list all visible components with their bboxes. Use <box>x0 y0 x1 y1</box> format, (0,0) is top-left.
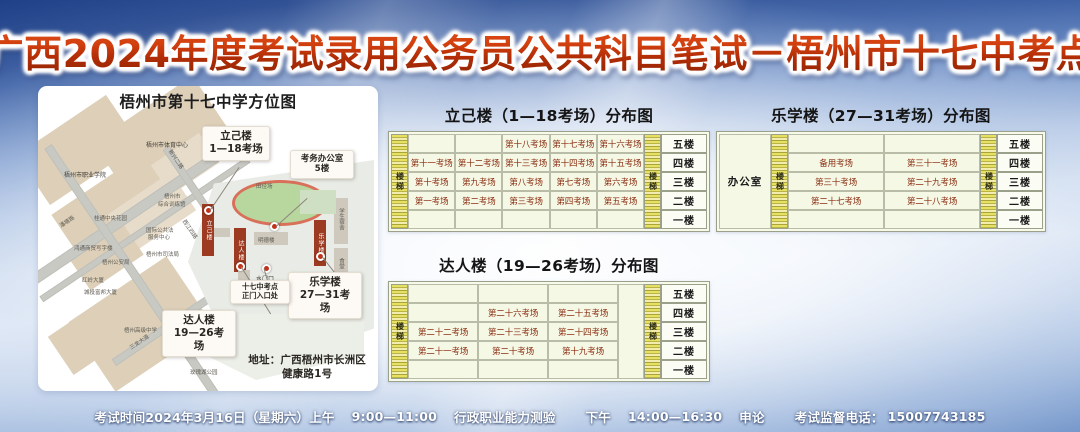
stairwell-right: 楼梯 <box>644 134 661 229</box>
map-label: 服务中心 <box>148 233 170 241</box>
exam-room-cell: 第二十九考场 <box>884 172 980 191</box>
footer-bar: 考试时间2024年3月16日（星期六）上午 9:00—11:00 行政职业能力测… <box>0 407 1080 426</box>
exam-room-cell: 第七考场 <box>550 172 597 191</box>
office-cell: 办公室 <box>719 134 771 229</box>
empty-cell <box>788 210 884 229</box>
floor-label-cell: 二楼 <box>661 341 707 360</box>
callout-gate-line2: 正门入口处 <box>235 292 285 301</box>
exam-room-cell: 第九考场 <box>455 172 502 191</box>
diagram-lexue: 乐学楼（27—31考场）分布图 办公室楼梯备用考场第三十一考场第三十考场第二十九… <box>716 104 1046 232</box>
floor-plan-grid: 楼梯第十八考场第十七考场第十六考场第十一考场第十二考场第十三考场第十四考场第十五… <box>391 134 707 229</box>
map-canvas: 立己楼 达人楼 乐学楼 梧州市职业学院 梧州市体育中心 梧州市 综合训练馆 桂通… <box>38 86 378 391</box>
map-address-line1: 地址：广西梧州市长洲区 <box>248 353 366 367</box>
empty-cell <box>455 210 502 229</box>
map-label: 明德楼 <box>258 236 275 244</box>
exam-room-cell: 第二十一考场 <box>408 341 478 360</box>
floor-label-cell: 四楼 <box>661 153 707 172</box>
building-daren-label: 达人楼 <box>237 240 243 261</box>
empty-cell <box>884 210 980 229</box>
stairwell-right-label: 楼梯 <box>985 172 993 192</box>
floor-label-cell: 二楼 <box>997 191 1043 210</box>
stairwell-right-label: 楼梯 <box>649 172 657 192</box>
floor-label-cell: 五楼 <box>661 134 707 153</box>
map-label: 桂通中央花园 <box>94 214 127 222</box>
exam-room-cell: 备用考场 <box>788 153 884 172</box>
floor-label-cell: 五楼 <box>661 284 707 303</box>
map-label: 西江四路 <box>181 218 200 241</box>
diagram-liji-grid: 楼梯第十八考场第十七考场第十六考场第十一考场第十二考场第十三考场第十四考场第十五… <box>388 131 710 232</box>
diagram-lexue-grid: 办公室楼梯备用考场第三十一考场第三十考场第二十九考场第二十七考场第二十八考场楼梯… <box>716 131 1046 232</box>
exam-room-cell: 第四考场 <box>550 191 597 210</box>
map-label: 田径场 <box>256 182 273 190</box>
exam-room-cell: 第二十五考场 <box>548 303 618 322</box>
exam-room-cell: 第十六考场 <box>597 134 644 153</box>
exam-room-cell: 第十四考场 <box>550 153 597 172</box>
diagram-lexue-title: 乐学楼（27—31考场）分布图 <box>716 104 1046 126</box>
map-label: 城投富邦大厦 <box>84 288 117 296</box>
map-label: 梧州市职业学院 <box>64 170 106 179</box>
exam-room-cell: 第十八考场 <box>502 134 549 153</box>
empty-cell <box>455 134 502 153</box>
empty-cell <box>478 360 548 379</box>
title-band: 广西2024年度考试录用公务员公共科目笔试－梧州市十七中考点 <box>0 21 1080 79</box>
floor-plan-grid: 办公室楼梯备用考场第三十一考场第三十考场第二十九考场第二十七考场第二十八考场楼梯… <box>719 134 1043 229</box>
map-address-line2: 健康路1号 <box>248 367 366 381</box>
floor-label-cell: 四楼 <box>997 153 1043 172</box>
stairwell-right: 楼梯 <box>644 284 661 379</box>
callout-kaowu[interactable]: 考务办公室 5楼 <box>290 150 354 179</box>
exam-room-cell: 第三十一考场 <box>884 153 980 172</box>
empty-cell <box>548 360 618 379</box>
diagram-daren: 达人楼（19—26考场）分布图 楼梯第二十六考场第二十五考场第二十二考场第二十三… <box>388 254 710 382</box>
callout-gate[interactable]: 十七中考点 正门入口处 <box>230 280 290 304</box>
map-label: 学生宿舍 <box>337 208 345 230</box>
footer-afternoon-label: 下午 <box>586 407 611 426</box>
empty-cell <box>408 303 478 322</box>
callout-kaowu-line1: 考务办公室 <box>296 154 348 164</box>
spacer-cell <box>618 284 644 379</box>
empty-cell <box>408 284 478 303</box>
map-label: 鸿通商贸写字楼 <box>74 244 113 252</box>
map-label: 玫瑰湖公园 <box>190 368 218 376</box>
empty-cell <box>478 284 548 303</box>
building-liji-label: 立己楼 <box>205 220 211 241</box>
exam-room-cell: 第五考场 <box>597 191 644 210</box>
stairwell-left-label: 楼梯 <box>396 172 404 192</box>
floor-label-cell: 五楼 <box>997 134 1043 153</box>
campus-map-panel: 立己楼 达人楼 乐学楼 梧州市职业学院 梧州市体育中心 梧州市 综合训练馆 桂通… <box>38 86 378 391</box>
map-label: 梧州市体育中心 <box>146 140 188 149</box>
map-label: 梧州公安局 <box>102 258 130 266</box>
stairwell-right: 楼梯 <box>980 134 997 229</box>
callout-daren[interactable]: 达人楼 19—26考场 <box>162 310 236 357</box>
empty-cell <box>597 210 644 229</box>
map-heading: 梧州市第十七中学方位图 <box>38 90 378 112</box>
exam-room-cell: 第二十六考场 <box>478 303 548 322</box>
exam-room-cell: 第十考场 <box>408 172 455 191</box>
exam-room-cell: 第十二考场 <box>455 153 502 172</box>
stairwell-right-label: 楼梯 <box>649 322 657 342</box>
empty-cell <box>548 284 618 303</box>
exam-room-cell: 第六考场 <box>597 172 644 191</box>
exam-room-cell: 第二十四考场 <box>548 322 618 341</box>
stairwell-left-label: 楼梯 <box>776 172 784 192</box>
stairwell-left: 楼梯 <box>391 134 408 229</box>
exam-room-cell: 第一考场 <box>408 191 455 210</box>
floor-label-cell: 一楼 <box>997 210 1043 229</box>
map-address: 地址：广西梧州市长洲区 健康路1号 <box>248 353 366 381</box>
map-label: 梧州市 <box>164 192 181 200</box>
footer-morning-subject: 行政职业能力测验 <box>454 407 556 426</box>
empty-cell <box>408 360 478 379</box>
callout-liji[interactable]: 立己楼 1—18考场 <box>202 126 270 161</box>
map-label: 梧州市司法局 <box>146 250 179 258</box>
callout-liji-line2: 1—18考场 <box>209 143 263 156</box>
floor-label-cell: 一楼 <box>661 360 707 379</box>
empty-cell <box>502 210 549 229</box>
exam-room-cell: 第十三考场 <box>502 153 549 172</box>
empty-cell <box>884 134 980 153</box>
footer-exam-time: 考试时间2024年3月16日（星期六）上午 <box>95 407 335 426</box>
exam-room-cell: 第三考场 <box>502 191 549 210</box>
stairwell-left-label: 楼梯 <box>396 322 404 342</box>
diagram-liji-title: 立己楼（1—18考场）分布图 <box>388 104 710 126</box>
callout-lexue-line2: 27—31考场 <box>295 289 355 315</box>
map-label: 食堂 <box>337 258 345 269</box>
floor-label-cell: 四楼 <box>661 303 707 322</box>
page-title: 广西2024年度考试录用公务员公共科目笔试－梧州市十七中考点 <box>0 23 1080 78</box>
stairwell-left: 楼梯 <box>391 284 408 379</box>
exam-room-cell: 第二考场 <box>455 191 502 210</box>
poster-root: 广西2024年度考试录用公务员公共科目笔试－梧州市十七中考点 <box>0 0 1080 432</box>
floor-label-cell: 三楼 <box>661 322 707 341</box>
exam-room-cell: 第十五考场 <box>597 153 644 172</box>
callout-lexue-line1: 乐学楼 <box>295 276 355 289</box>
footer-afternoon-range: 14:00—16:30 <box>628 409 722 424</box>
diagram-daren-grid: 楼梯第二十六考场第二十五考场第二十二考场第二十三考场第二十四考场第二十一考场第二… <box>388 281 710 382</box>
callout-liji-line1: 立己楼 <box>209 130 263 143</box>
callout-lexue[interactable]: 乐学楼 27—31考场 <box>288 272 362 319</box>
floor-label-cell: 一楼 <box>661 210 707 229</box>
building-lexue-label: 乐学楼 <box>317 233 323 254</box>
exam-room-cell: 第二十二考场 <box>408 322 478 341</box>
floor-label-cell: 二楼 <box>661 191 707 210</box>
exam-room-cell: 第十七考场 <box>550 134 597 153</box>
sports-court <box>300 190 336 214</box>
exam-room-cell: 第二十三考场 <box>478 322 548 341</box>
footer-morning-range: 9:00—11:00 <box>352 409 437 424</box>
exam-room-cell: 第二十八考场 <box>884 191 980 210</box>
exam-room-cell: 第二十七考场 <box>788 191 884 210</box>
callout-kaowu-line2: 5楼 <box>296 164 348 174</box>
diagram-liji: 立己楼（1—18考场）分布图 楼梯第十八考场第十七考场第十六考场第十一考场第十二… <box>388 104 710 232</box>
exam-room-cell: 第十九考场 <box>548 341 618 360</box>
floor-label-cell: 三楼 <box>661 172 707 191</box>
footer-hotline-number: 15007743185 <box>888 409 986 424</box>
empty-cell <box>788 134 884 153</box>
map-label: 综合训练馆 <box>158 200 186 208</box>
callout-daren-line1: 达人楼 <box>169 314 229 327</box>
floor-label-cell: 三楼 <box>997 172 1043 191</box>
exam-room-cell: 第十一考场 <box>408 153 455 172</box>
empty-cell <box>550 210 597 229</box>
callout-daren-line2: 19—26考场 <box>169 327 229 353</box>
floor-plan-grid: 楼梯第二十六考场第二十五考场第二十二考场第二十三考场第二十四考场第二十一考场第二… <box>391 284 707 379</box>
building-misc <box>214 228 230 237</box>
exam-room-cell: 第八考场 <box>502 172 549 191</box>
exam-room-cell: 第二十考场 <box>478 341 548 360</box>
empty-cell <box>408 210 455 229</box>
empty-cell <box>408 134 455 153</box>
stairwell-left: 楼梯 <box>771 134 788 229</box>
footer-afternoon-subject: 申论 <box>739 407 764 426</box>
map-label: 梧州高级中学 <box>124 326 157 334</box>
footer-hotline-label: 考试监督电话： <box>795 407 884 426</box>
exam-room-cell: 第三十考场 <box>788 172 884 191</box>
map-label: 红岭大厦 <box>82 276 104 284</box>
diagram-daren-title: 达人楼（19—26考场）分布图 <box>388 254 710 276</box>
